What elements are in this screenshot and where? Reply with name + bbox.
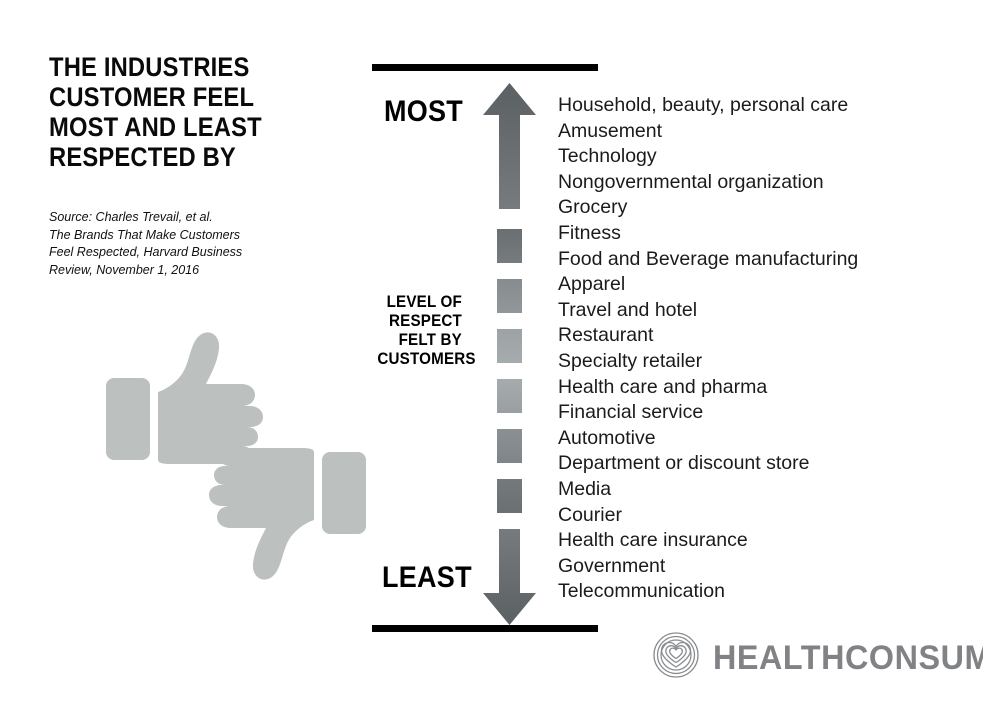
list-item: Financial service xyxy=(558,400,858,426)
list-item: Apparel xyxy=(558,272,858,298)
brand-wordmark: HEALTHCONSUMING xyxy=(713,641,983,675)
list-item: Technology xyxy=(558,144,858,170)
list-item: Restaurant xyxy=(558,323,858,349)
list-item: Food and Beverage manufacturing xyxy=(558,247,858,273)
scale-label-least: LEAST xyxy=(382,563,472,593)
list-item: Department or discount store xyxy=(558,451,858,477)
list-item: Telecommunication xyxy=(558,579,858,605)
thumbs-illustration xyxy=(100,330,370,595)
brand-logo: HEALTHCONSUMING xyxy=(652,631,983,684)
industry-list: Household, beauty, personal care Amuseme… xyxy=(558,93,858,605)
axis-caption: LEVEL OF RESPECT FELT BY CUSTOMERS xyxy=(377,293,462,369)
heart-circles-icon xyxy=(652,631,700,684)
list-item: Nongovernmental organization xyxy=(558,170,858,196)
list-item: Household, beauty, personal care xyxy=(558,93,858,119)
list-item: Health care and pharma xyxy=(558,375,858,401)
rule-bar-bottom xyxy=(372,625,598,632)
source-citation: Source: Charles Trevail, et al. The Bran… xyxy=(49,209,289,279)
title-block: THE INDUSTRIES CUSTOMER FEEL MOST AND LE… xyxy=(49,52,349,172)
list-item: Amusement xyxy=(558,119,858,145)
list-item: Automotive xyxy=(558,426,858,452)
list-item: Fitness xyxy=(558,221,858,247)
rule-bar-top xyxy=(372,64,598,71)
list-item: Government xyxy=(558,554,858,580)
list-item: Grocery xyxy=(558,195,858,221)
gradient-arrow-track xyxy=(482,83,537,625)
list-item: Health care insurance xyxy=(558,528,858,554)
list-item: Specialty retailer xyxy=(558,349,858,375)
list-item: Courier xyxy=(558,503,858,529)
page-title: THE INDUSTRIES CUSTOMER FEEL MOST AND LE… xyxy=(49,52,313,172)
scale-label-most: MOST xyxy=(384,97,463,127)
list-item: Travel and hotel xyxy=(558,298,858,324)
list-item: Media xyxy=(558,477,858,503)
